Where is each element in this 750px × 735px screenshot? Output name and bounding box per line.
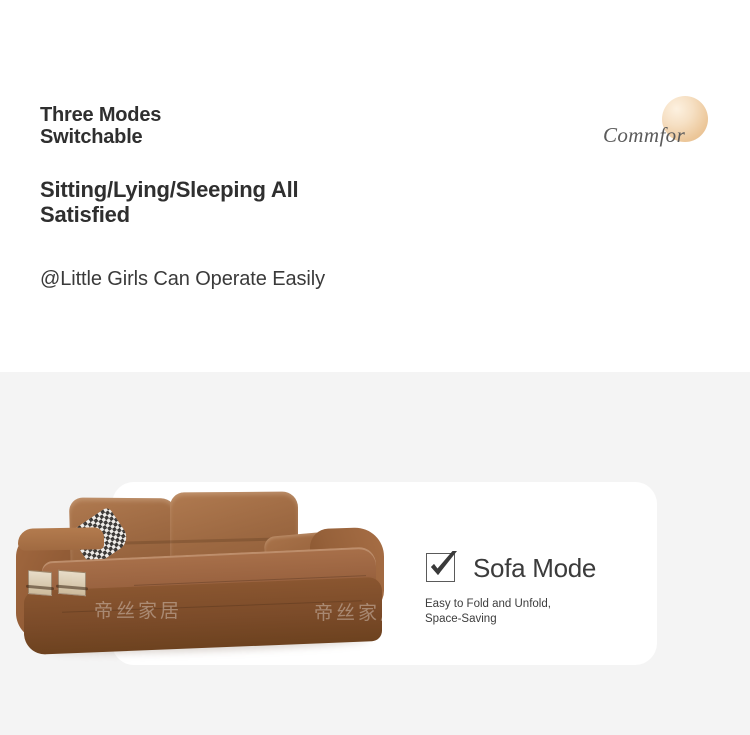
- hero-section: Three Modes Switchable Sitting/Lying/Sle…: [0, 0, 750, 372]
- sofa-image: 帝丝家居 帝丝家居: [8, 472, 408, 667]
- sofa-mode-subtitle: Easy to Fold and Unfold, Space-Saving: [425, 588, 655, 627]
- side-pocket-magazine-a: [28, 570, 52, 596]
- product-panel: 帝丝家居 帝丝家居 Sofa Mode Easy to Fold and Unf…: [0, 372, 750, 735]
- sofa-illustration: 帝丝家居 帝丝家居: [14, 476, 396, 664]
- checkbox-checked-icon: [425, 551, 459, 585]
- sofa-arm-left-top: [18, 527, 104, 551]
- brand-logo: Commfor: [603, 96, 708, 154]
- hero-copy: Three Modes Switchable Sitting/Lying/Sle…: [40, 104, 460, 291]
- sofa-mode-title: Sofa Mode: [473, 555, 596, 581]
- brand-name: Commfor: [603, 123, 685, 148]
- hero-tagline: @Little Girls Can Operate Easily: [40, 227, 460, 291]
- sofa-mode-heading-row: Sofa Mode: [425, 548, 655, 588]
- side-pocket-magazine-b: [58, 570, 86, 596]
- headline-secondary: Sitting/Lying/Sleeping All Satisfied: [40, 149, 460, 228]
- headline-primary: Three Modes Switchable: [40, 104, 460, 149]
- sofa-mode-block: Sofa Mode Easy to Fold and Unfold, Space…: [425, 548, 655, 627]
- checkmark-glyph: [425, 548, 461, 584]
